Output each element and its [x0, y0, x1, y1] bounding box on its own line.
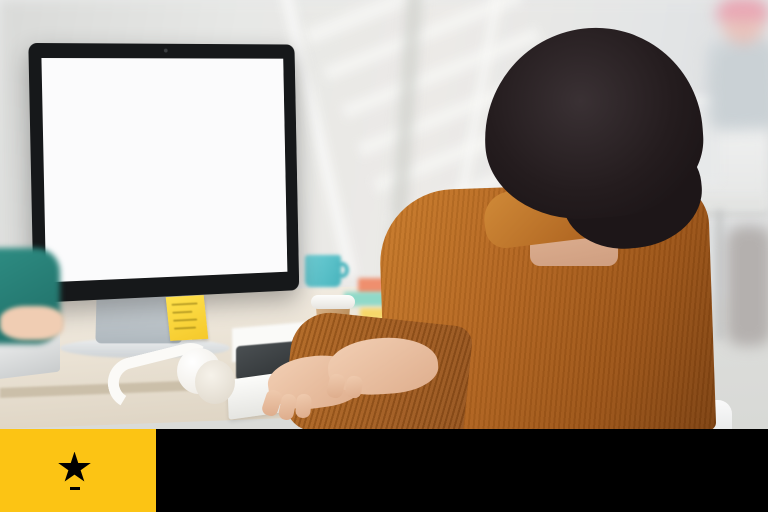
monitor-screen	[41, 58, 287, 282]
person-designer	[262, 18, 732, 429]
banner-headline	[156, 429, 768, 512]
wireframe-board	[41, 58, 287, 282]
left-person-hand	[0, 306, 64, 340]
logo-abbreviation	[70, 487, 80, 490]
photo-region	[0, 0, 768, 429]
background-person	[726, 226, 768, 346]
headphones-icon	[107, 342, 243, 412]
amu-logo[interactable]	[0, 429, 156, 512]
logo-mark	[58, 452, 92, 490]
star-icon	[58, 452, 92, 485]
desktop-monitor	[28, 43, 299, 303]
bottom-banner	[0, 429, 768, 512]
screenshot-root	[0, 0, 768, 512]
yellow-sticky-note	[166, 295, 209, 341]
person-hair	[478, 21, 709, 226]
